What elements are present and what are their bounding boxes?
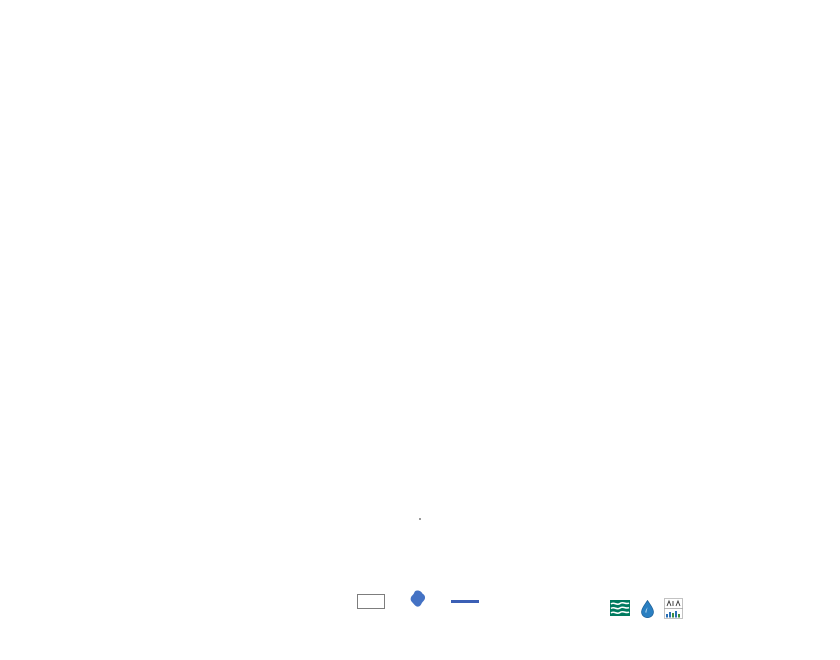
agency-logos [610,598,686,619]
ssebop-mark-icon [664,598,683,619]
feature-legend [0,590,840,612]
water-body-swatch-icon [410,590,426,612]
river-line-swatch-icon [451,600,479,603]
et-anomaly-map-page [0,0,840,660]
legend-item-river [451,600,484,603]
legend-ramp-row [0,518,840,520]
ssebop-logo [664,598,686,619]
usgs-wave-icon [610,600,630,616]
et-anomaly-raster-map [0,112,840,490]
map-figure [0,112,840,490]
water-droplet-icon [641,600,654,618]
usgs-logo [610,600,632,617]
legend [0,512,840,523]
legend-color-ramp [419,518,421,520]
state-boundary-swatch-icon [357,594,385,609]
legend-item-water-body [410,590,431,612]
watersmart-logo [641,600,655,618]
legend-item-state [357,594,390,609]
